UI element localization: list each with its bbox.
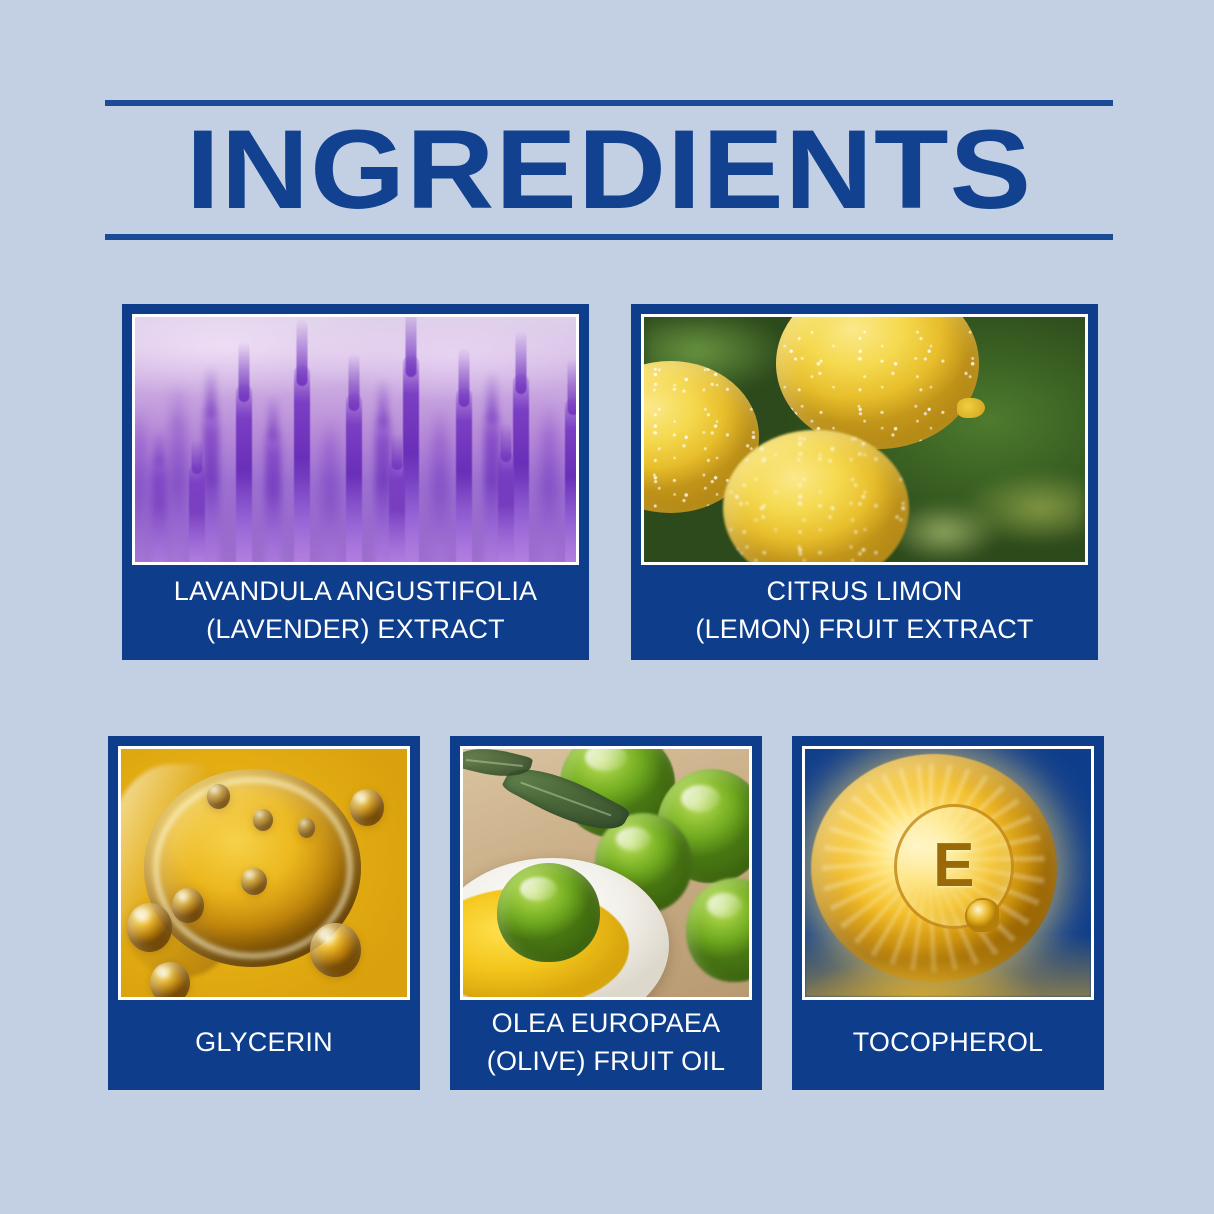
olive-in-oil <box>497 863 600 962</box>
card-caption-tocopherol: TOCOPHEROL <box>792 1000 1104 1090</box>
ingredient-card-lemon[interactable]: CITRUS LIMON (LEMON) FRUIT EXTRACT <box>631 304 1098 660</box>
small-oil-bubble <box>965 898 1000 934</box>
photo-frame <box>132 314 579 565</box>
lavender-ground-mist <box>135 479 576 562</box>
card-caption-lavender: LAVANDULA ANGUSTIFOLIA (LAVENDER) EXTRAC… <box>122 565 589 660</box>
photo-frame <box>641 314 1088 565</box>
card-caption-olive: OLEA EUROPAEA (OLIVE) FRUIT OIL <box>450 1000 762 1090</box>
caption-line: GLYCERIN <box>195 1023 333 1061</box>
photo-frame <box>118 746 410 1000</box>
caption-line: TOCOPHEROL <box>853 1023 1044 1061</box>
caption-line: (LEMON) FRUIT EXTRACT <box>695 610 1033 648</box>
lavender-field-photo <box>135 317 576 562</box>
page-title: INGREDIENTS <box>60 106 1159 234</box>
ingredients-infographic: INGREDIENTS <box>0 0 1214 1214</box>
vitamin-e-letter: E <box>933 835 974 897</box>
ingredient-card-olive[interactable]: OLEA EUROPAEA (OLIVE) FRUIT OIL <box>450 736 762 1090</box>
ingredient-card-glycerin[interactable]: GLYCERIN <box>108 736 420 1090</box>
lemons-on-branch-photo <box>644 317 1085 562</box>
caption-line: (LAVENDER) EXTRACT <box>174 610 538 648</box>
title-block: INGREDIENTS <box>105 100 1113 240</box>
vitamin-e-capsule-photo: E <box>805 749 1091 997</box>
card-caption-glycerin: GLYCERIN <box>108 1000 420 1090</box>
caption-line: OLEA EUROPAEA <box>487 1004 725 1042</box>
photo-frame: E <box>802 746 1094 1000</box>
photo-frame <box>460 746 752 1000</box>
oil-pool <box>805 933 1091 997</box>
caption-line: (OLIVE) FRUIT OIL <box>487 1042 725 1080</box>
green-olives-and-oil-photo <box>463 749 749 997</box>
ingredient-card-tocopherol[interactable]: E TOCOPHEROL <box>792 736 1104 1090</box>
caption-line: CITRUS LIMON <box>695 572 1033 610</box>
ingredient-card-lavender[interactable]: LAVANDULA ANGUSTIFOLIA (LAVENDER) EXTRAC… <box>122 304 589 660</box>
olive-shape <box>686 878 749 982</box>
golden-oil-bubbles-photo <box>121 749 407 997</box>
caption-line: LAVANDULA ANGUSTIFOLIA <box>174 572 538 610</box>
card-caption-lemon: CITRUS LIMON (LEMON) FRUIT EXTRACT <box>631 565 1098 660</box>
title-rule-bottom <box>105 234 1113 240</box>
